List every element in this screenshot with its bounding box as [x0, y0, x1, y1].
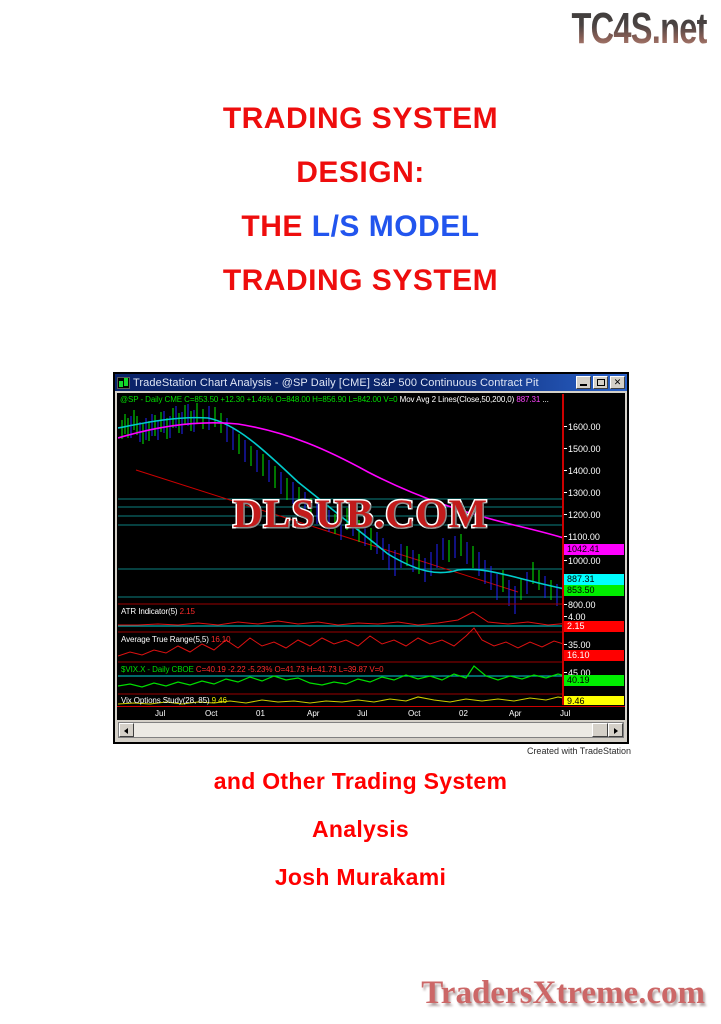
- pane-label-atr: ATR Indicator(5) 2.15: [121, 607, 195, 616]
- title-line-3-prefix: THE: [241, 210, 311, 243]
- date-axis[interactable]: Jul Oct 01 Apr Jul Oct 02 Apr Jul: [117, 706, 625, 720]
- window-controls: ✕: [576, 376, 626, 389]
- atr-marker: 2.15: [564, 621, 624, 632]
- quote-line: @SP - Daily CME C=853.50 +12.30 +1.46% O…: [120, 395, 398, 404]
- minimize-button[interactable]: [576, 376, 591, 389]
- atr-avg-label: Average True Range(5,5): [121, 635, 209, 644]
- top-watermark: TC4S.net: [572, 4, 707, 54]
- overlay-study-label: Mov Avg 2 Lines(Close,50,200,0): [400, 395, 515, 404]
- vix-quote: C=40.19 -2.22 -5.23% O=41.73 H=41.73 L=3…: [196, 665, 384, 674]
- date-tick-3: Apr: [307, 709, 319, 718]
- pane-label-vix-options: Vix Options Study(28, 85) 9.46: [121, 696, 227, 705]
- vix-label: $VIX.X - Daily CBOE: [121, 665, 194, 674]
- chart-body: @SP - Daily CME C=853.50 +12.30 +1.46% O…: [117, 393, 625, 706]
- vix-options-label: Vix Options Study(28, 85): [121, 696, 210, 705]
- title-line-3-accent: L/S MODEL: [312, 210, 480, 243]
- title-line-2: DESIGN:: [0, 158, 721, 188]
- date-tick-0: Jul: [155, 709, 165, 718]
- date-tick-5: Oct: [408, 709, 420, 718]
- price-tick-1400: 1400.00: [564, 466, 601, 476]
- close-button[interactable]: ✕: [610, 376, 625, 389]
- page-title: TRADING SYSTEM DESIGN: THE L/S MODEL TRA…: [0, 104, 721, 320]
- bottom-watermark: TradersXtreme.com: [421, 975, 705, 1012]
- scroll-left-arrow-icon[interactable]: [119, 723, 134, 737]
- overlay-ellipsis: ...: [542, 395, 548, 404]
- scrollbar-thumb[interactable]: [592, 723, 608, 737]
- price-tick-800: 800.00: [564, 600, 596, 610]
- overlay-study-value: 887.31: [516, 395, 540, 404]
- maximize-button[interactable]: [593, 376, 608, 389]
- horizontal-scrollbar[interactable]: [118, 722, 624, 738]
- subtitle-line-1: and Other Trading System: [0, 768, 721, 795]
- price-axis[interactable]: 1600.00 1500.00 1400.00 1300.00 1200.00 …: [562, 394, 624, 705]
- price-tick-1200: 1200.00: [564, 510, 601, 520]
- atr-avg-value: 16.10: [211, 635, 231, 644]
- pane-label-vix: $VIX.X - Daily CBOE C=40.19 -2.22 -5.23%…: [121, 665, 384, 674]
- chart-svg: [118, 394, 562, 705]
- atr-avg-marker: 16.10: [564, 650, 624, 661]
- title-line-3: THE L/S MODEL: [0, 212, 721, 242]
- chart-app-icon: [117, 377, 130, 389]
- vix-marker: 40.19: [564, 675, 624, 686]
- price-tick-1300: 1300.00: [564, 488, 601, 498]
- price-tick-1600: 1600.00: [564, 422, 601, 432]
- price-marker-1042: 1042.41: [564, 544, 624, 555]
- price-marker-887: 887.31: [564, 574, 624, 585]
- atr-label: ATR Indicator(5): [121, 607, 178, 616]
- scroll-right-arrow-icon[interactable]: [608, 723, 623, 737]
- tradestation-window: TradeStation Chart Analysis - @SP Daily …: [113, 372, 629, 744]
- quote-legend: @SP - Daily CME C=853.50 +12.30 +1.46% O…: [120, 395, 549, 404]
- vix-options-marker: 9.46: [564, 696, 624, 705]
- price-tick-1100: 1100.00: [564, 532, 600, 542]
- date-tick-2: 01: [256, 709, 265, 718]
- price-tick-1500: 1500.00: [564, 444, 601, 454]
- atr-value: 2.15: [180, 607, 195, 616]
- author-name: Josh Murakami: [0, 864, 721, 891]
- price-tick-1000: 1000.00: [564, 556, 601, 566]
- subtitle-block: and Other Trading System Analysis Josh M…: [0, 768, 721, 912]
- title-line-1: TRADING SYSTEM: [0, 104, 721, 134]
- chart-plot-area[interactable]: @SP - Daily CME C=853.50 +12.30 +1.46% O…: [118, 394, 562, 705]
- pane-label-average-true-range: Average True Range(5,5) 16.10: [121, 635, 231, 644]
- date-tick-6: 02: [459, 709, 468, 718]
- window-titlebar[interactable]: TradeStation Chart Analysis - @SP Daily …: [115, 374, 627, 391]
- cover-page: TC4S.net TRADING SYSTEM DESIGN: THE L/S …: [0, 0, 721, 1024]
- date-tick-1: Oct: [205, 709, 217, 718]
- tradestation-credit: Created with TradeStation: [0, 746, 721, 756]
- subtitle-line-2: Analysis: [0, 816, 721, 843]
- title-line-4: TRADING SYSTEM: [0, 266, 721, 296]
- date-tick-4: Jul: [357, 709, 367, 718]
- window-title: TradeStation Chart Analysis - @SP Daily …: [133, 377, 576, 389]
- price-marker-853: 853.50: [564, 585, 624, 596]
- date-tick-7: Apr: [509, 709, 521, 718]
- date-tick-8: Jul: [560, 709, 570, 718]
- scrollbar-track[interactable]: [134, 723, 608, 737]
- atr-avg-tick-35: 35.00: [564, 640, 591, 650]
- vix-options-value: 9.46: [212, 696, 227, 705]
